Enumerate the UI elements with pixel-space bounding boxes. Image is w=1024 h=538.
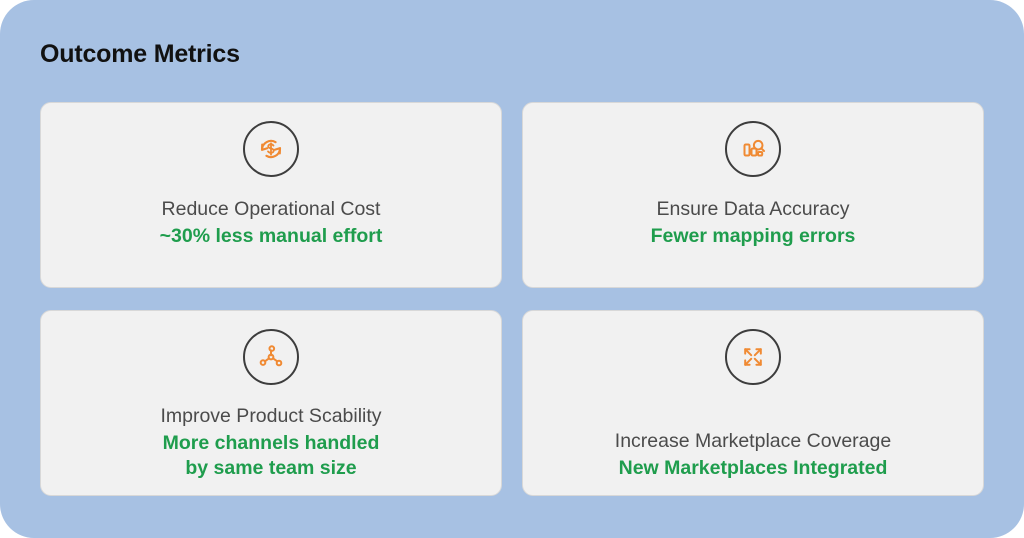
network-nodes-icon	[243, 329, 299, 385]
page-title: Outcome Metrics	[40, 40, 240, 69]
metric-card-metric: New Marketplaces Integrated	[537, 456, 969, 481]
metric-card-metric: Fewer mapping errors	[537, 224, 969, 249]
outcome-metrics-panel: Outcome Metrics Reduce Operational Cost …	[0, 0, 1024, 538]
metric-card-metric: More channels handled by same team size	[55, 431, 487, 481]
metric-card-metric: ~30% less manual effort	[55, 224, 487, 249]
metric-line-1: More channels handled	[163, 432, 380, 454]
metrics-grid: Reduce Operational Cost ~30% less manual…	[40, 102, 984, 496]
metric-card-increase-marketplace-coverage[interactable]: Increase Marketplace Coverage New Market…	[522, 310, 984, 496]
metric-card-improve-product-scability[interactable]: Improve Product Scability More channels …	[40, 310, 502, 496]
metric-card-title: Increase Marketplace Coverage	[537, 429, 969, 455]
metric-line-1: Fewer mapping errors	[651, 225, 856, 247]
metric-card-title: Improve Product Scability	[55, 404, 487, 430]
cost-cycle-dollar-icon	[243, 121, 299, 177]
metric-card-text: Reduce Operational Cost ~30% less manual…	[41, 197, 501, 249]
metric-line-2: by same team size	[55, 456, 487, 481]
metric-card-text: Increase Marketplace Coverage New Market…	[523, 429, 983, 481]
expand-arrows-icon	[725, 329, 781, 385]
metric-card-text: Ensure Data Accuracy Fewer mapping error…	[523, 197, 983, 249]
metric-card-text: Improve Product Scability More channels …	[41, 404, 501, 481]
metric-card-title: Ensure Data Accuracy	[537, 197, 969, 223]
metric-card-ensure-data-accuracy[interactable]: Ensure Data Accuracy Fewer mapping error…	[522, 102, 984, 288]
bar-chart-magnifier-icon	[725, 121, 781, 177]
metric-card-reduce-operational-cost[interactable]: Reduce Operational Cost ~30% less manual…	[40, 102, 502, 288]
metric-line-1: ~30% less manual effort	[160, 225, 383, 247]
metric-line-1: New Marketplaces Integrated	[619, 457, 888, 479]
metric-card-title: Reduce Operational Cost	[55, 197, 487, 223]
